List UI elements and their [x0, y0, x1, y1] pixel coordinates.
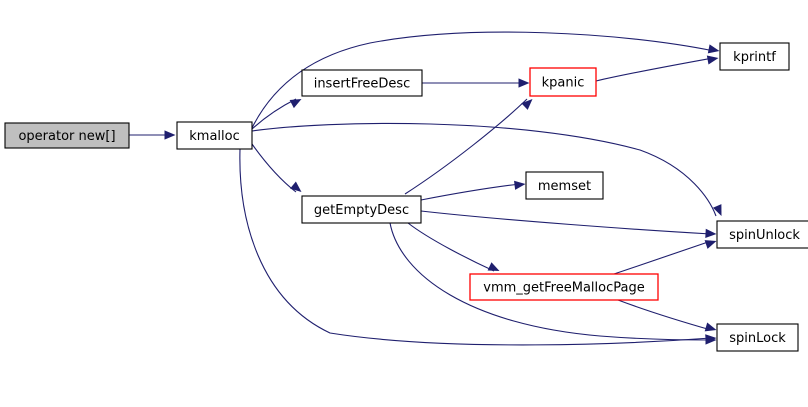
node-kpanic[interactable]: kpanic: [530, 68, 596, 96]
node-insertFreeDesc[interactable]: insertFreeDesc: [302, 70, 422, 96]
edge-line: [421, 184, 520, 200]
node-spinLock[interactable]: spinLock: [717, 324, 798, 351]
node-kprintf[interactable]: kprintf: [720, 43, 789, 70]
arrowhead-icon: [488, 262, 502, 275]
node-kmalloc[interactable]: kmalloc: [177, 122, 252, 149]
arrowhead-icon: [707, 53, 719, 64]
node-label: getEmptyDesc: [314, 203, 409, 218]
edge-line: [252, 99, 296, 129]
edge-vmm_getFreeMallocPage-to-spinLock: [618, 300, 718, 334]
edge-vmm_getFreeMallocPage-to-spinUnlock: [614, 237, 718, 274]
arrowhead-icon: [705, 237, 718, 249]
arrowhead-icon: [708, 44, 721, 55]
node-memset[interactable]: memset: [526, 172, 603, 199]
edge-kpanic-to-kprintf: [596, 53, 719, 81]
node-label: spinUnlock: [729, 228, 800, 243]
node-label: memset: [538, 179, 591, 194]
edge-line: [614, 241, 711, 274]
edge-line: [618, 300, 711, 330]
edge-line: [405, 99, 527, 194]
edge-line: [252, 144, 296, 192]
node-label: vmm_getFreeMallocPage: [483, 281, 644, 296]
arrowhead-icon: [713, 204, 726, 218]
edge-kmalloc-to-insertFreeDesc: [252, 95, 304, 129]
arrowhead-icon: [705, 229, 717, 239]
node-operator-new-array[interactable]: operator new[]: [5, 123, 129, 148]
edge-insertFreeDesc-to-kpanic: [422, 78, 530, 87]
arrowhead-icon: [521, 96, 535, 110]
node-spinUnlock[interactable]: spinUnlock: [717, 221, 808, 248]
node-label: kpanic: [542, 76, 585, 91]
edge-line: [240, 149, 711, 345]
call-graph-canvas: operator new[]kmallocinsertFreeDesckpani…: [0, 0, 808, 407]
edge-line: [408, 223, 494, 271]
node-getEmptyDesc[interactable]: getEmptyDesc: [302, 196, 421, 223]
arrowhead-icon: [519, 78, 530, 87]
nodes-layer: operator new[]kmallocinsertFreeDesckpani…: [5, 43, 808, 351]
node-label: spinLock: [729, 331, 786, 346]
edge-getEmptyDesc-to-vmm_getFreeMallocPage: [408, 223, 501, 275]
edge-operator-new-array-to-kmalloc: [129, 130, 176, 139]
arrowhead-icon: [165, 130, 176, 139]
arrowhead-icon: [705, 323, 718, 335]
edge-line: [596, 58, 713, 81]
arrowhead-icon: [514, 179, 526, 189]
edge-kmalloc-to-spinLock: [240, 149, 717, 345]
edge-line: [421, 211, 711, 234]
node-label: operator new[]: [18, 129, 115, 144]
node-label: kmalloc: [189, 129, 239, 144]
arrowhead-icon: [290, 181, 304, 195]
call-graph-svg: operator new[]kmallocinsertFreeDesckpani…: [0, 0, 808, 407]
edge-getEmptyDesc-to-kpanic: [405, 96, 536, 194]
arrowhead-icon: [290, 95, 304, 108]
node-label: insertFreeDesc: [314, 77, 411, 92]
edge-getEmptyDesc-to-memset: [421, 179, 526, 200]
edge-getEmptyDesc-to-spinUnlock: [421, 211, 717, 239]
node-vmm_getFreeMallocPage[interactable]: vmm_getFreeMallocPage: [470, 274, 658, 300]
node-label: kprintf: [733, 50, 776, 65]
edge-kmalloc-to-getEmptyDesc: [252, 144, 304, 196]
